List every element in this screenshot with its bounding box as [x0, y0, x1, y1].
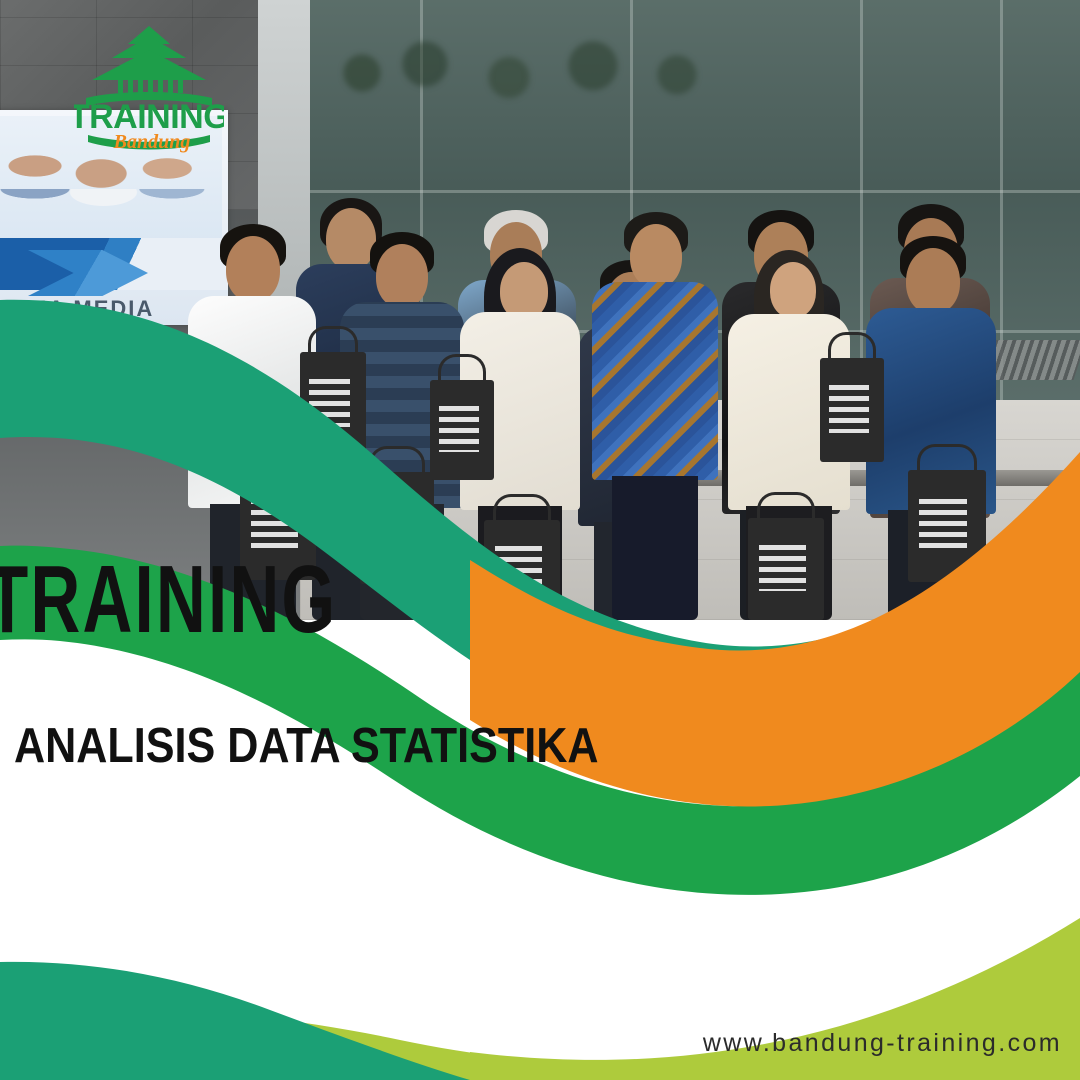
page-subtitle: ANALISIS DATA STATISTIKA	[14, 722, 598, 771]
tote-bag	[908, 470, 986, 582]
poster-canvas: JA MEDIA T N G	[0, 0, 1080, 1080]
website-url: www.bandung-training.com	[703, 1029, 1062, 1058]
tote-bag	[360, 472, 434, 584]
bandung-training-logo: TRAINING Bandung	[74, 24, 224, 156]
tote-bag	[820, 358, 884, 462]
person-front-6	[866, 120, 996, 620]
tote-bag	[484, 520, 560, 620]
banner-text-line1: JA MEDIA	[34, 296, 154, 322]
banner-text-line2: T N G	[70, 322, 130, 337]
logo-sub-text: Bandung	[113, 131, 191, 153]
tote-bag	[300, 352, 366, 456]
tote-bag	[430, 380, 494, 480]
teal-wave-bottom	[0, 962, 470, 1080]
banner-color-bar	[58, 346, 198, 362]
tote-bag	[748, 518, 824, 620]
page-title: TRAINING	[0, 552, 337, 648]
person-front-4	[592, 90, 718, 620]
reflected-treeline	[320, 10, 740, 100]
